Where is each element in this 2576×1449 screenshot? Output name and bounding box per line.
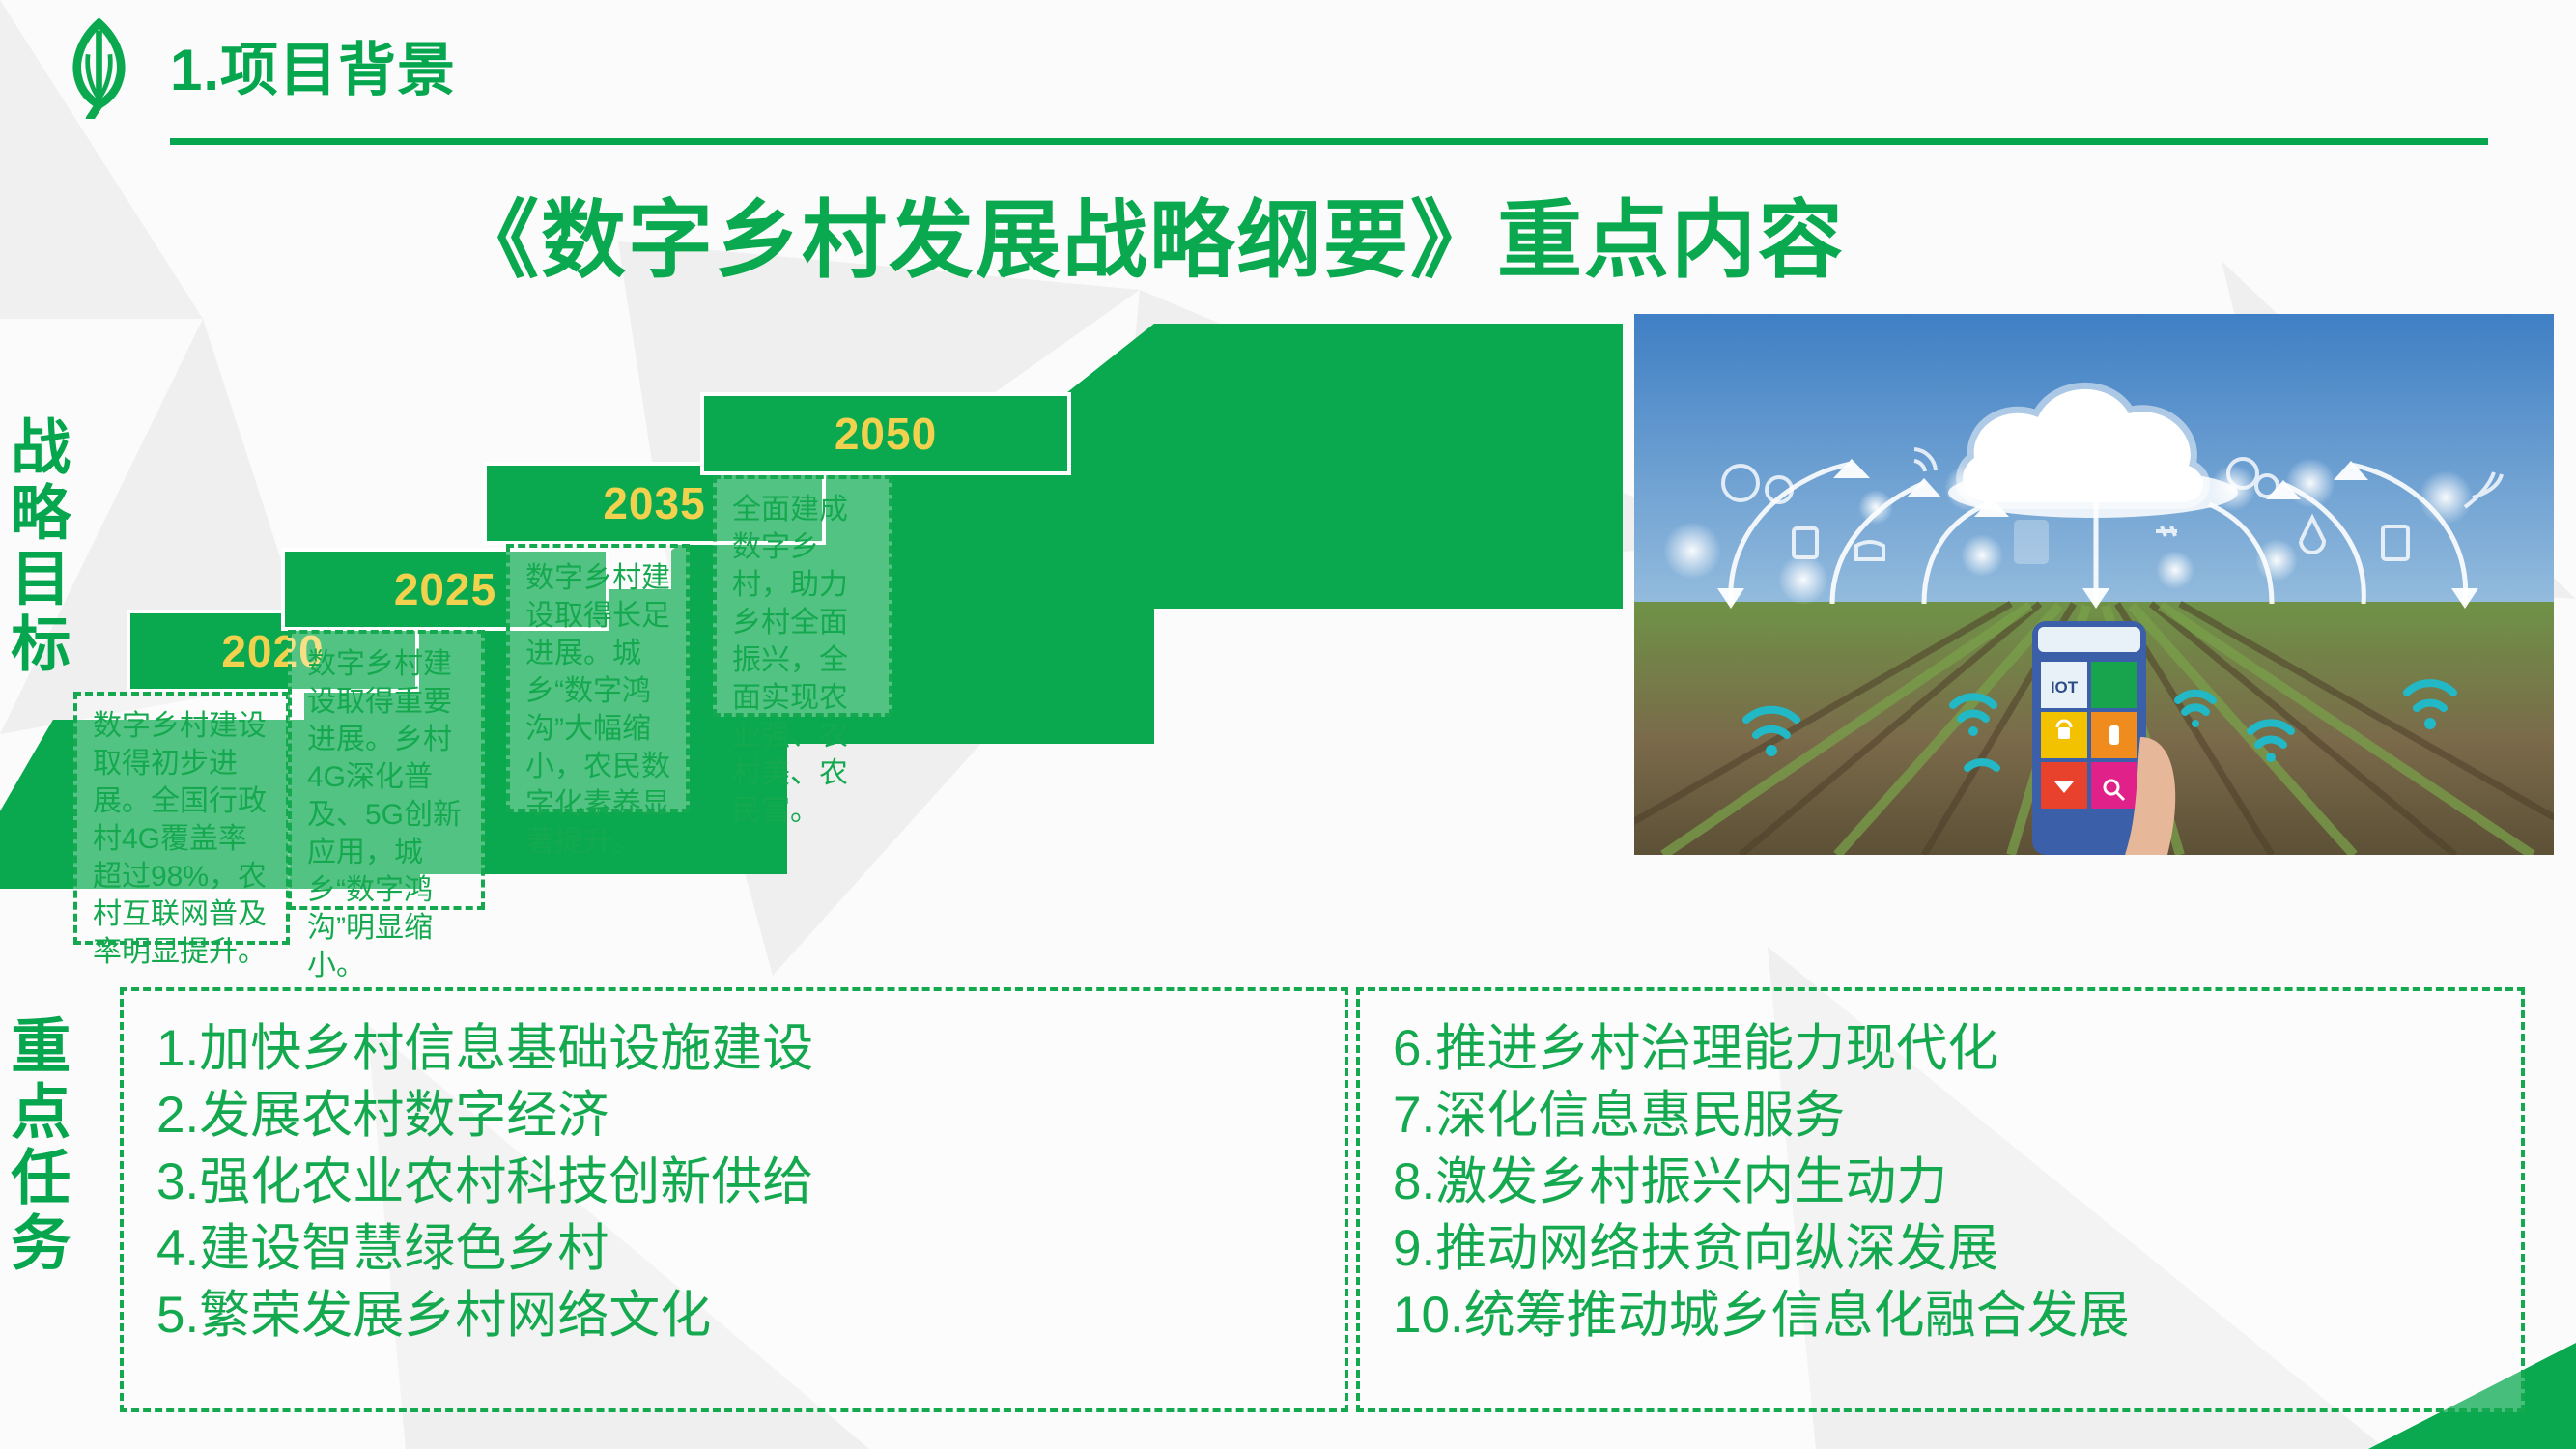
- smart-agriculture-photo: IOT: [1634, 314, 2554, 855]
- task-item: 7.深化信息惠民服务: [1393, 1083, 2504, 1150]
- step-description-2035: 数字乡村建设取得长足进展。城乡“数字鸿沟”大幅缩小，农民数字化素养显著提升。: [506, 544, 690, 812]
- task-item: 1.加快乡村信息基础设施建设: [156, 1016, 1327, 1083]
- key-tasks-right-box: 6.推进乡村治理能力现代化 7.深化信息惠民服务 8.激发乡村振兴内生动力 9.…: [1356, 987, 2525, 1412]
- key-tasks-label: 重点任务: [4, 1014, 65, 1277]
- task-item: 2.发展农村数字经济: [156, 1083, 1327, 1150]
- leaf-icon: [53, 17, 145, 119]
- step-description-2050: 全面建成数字乡村，助力乡村全面振兴，全面实现农业强、农村美、农民富。: [713, 475, 892, 717]
- task-item: 10.统筹推动城乡信息化融合发展: [1393, 1283, 2504, 1350]
- page-title: 《数字乡村发展战略纲要》重点内容: [0, 172, 2299, 295]
- task-item: 6.推进乡村治理能力现代化: [1393, 1016, 2504, 1083]
- key-tasks-left-box: 1.加快乡村信息基础设施建设 2.发展农村数字经济 3.强化农业农村科技创新供给…: [120, 987, 1348, 1412]
- task-item: 5.繁荣发展乡村网络文化: [156, 1283, 1327, 1350]
- page-section-title: 1.项目背景: [170, 23, 456, 107]
- step-year-2025: 2025: [394, 563, 496, 615]
- header-divider: [170, 138, 2488, 145]
- step-description-2020: 数字乡村建设取得初步进展。全国行政村4G覆盖率超过98%，农村互联网普及率明显提…: [73, 692, 290, 945]
- step-description-2025: 数字乡村建设取得重要进展。乡村4G深化普及、5G创新应用，城乡“数字鸿沟”明显缩…: [288, 630, 485, 910]
- task-item: 8.激发乡村振兴内生动力: [1393, 1150, 2504, 1216]
- task-item: 4.建设智慧绿色乡村: [156, 1216, 1327, 1283]
- task-item: 3.强化农业农村科技创新供给: [156, 1150, 1327, 1216]
- step-year-2050: 2050: [835, 408, 937, 460]
- page-header: 1.项目背景: [0, 0, 2576, 164]
- photo-illustration: IOT: [1634, 314, 2554, 855]
- task-item: 9.推动网络扶贫向纵深发展: [1393, 1216, 2504, 1283]
- phone-iot-label: IOT: [2051, 678, 2079, 696]
- step-year-2035: 2035: [603, 477, 705, 529]
- step-header-2050: 2050: [700, 392, 1071, 475]
